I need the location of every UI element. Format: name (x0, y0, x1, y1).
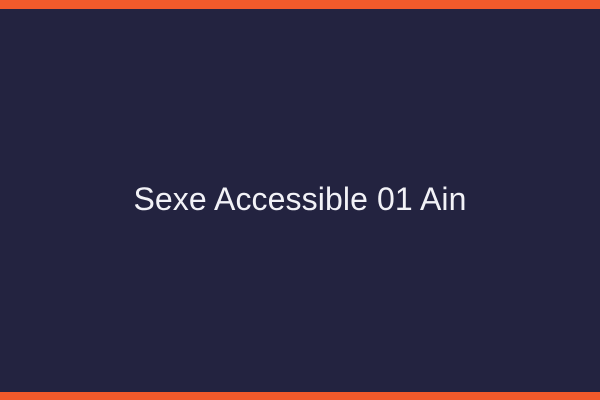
top-accent-bar (0, 0, 600, 9)
page-title: Sexe Accessible 01 Ain (117, 182, 482, 217)
banner-content-area: Sexe Accessible 01 Ain (0, 9, 600, 392)
bottom-accent-bar (0, 392, 600, 400)
placeholder-banner: Sexe Accessible 01 Ain (0, 0, 600, 400)
